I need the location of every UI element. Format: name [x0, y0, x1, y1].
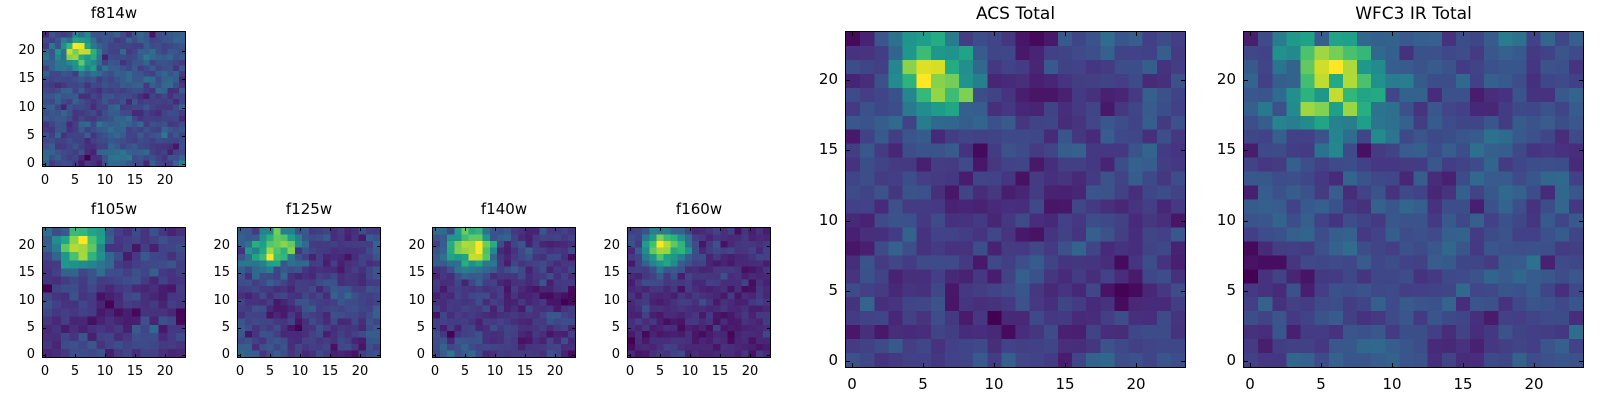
yticklabel-wfc3-ir-total-0: 0: [1203, 353, 1236, 368]
xtick-top-f140w-2: [495, 227, 496, 231]
panel-title-f125w: f125w: [237, 202, 381, 217]
ytick-f105w-1: [42, 328, 46, 329]
xtick-top-f814w-2: [105, 31, 106, 35]
xtick-f105w-1: [75, 354, 76, 358]
ytick-right-wfc3-ir-total-1: [1579, 291, 1584, 292]
yticklabel-acs-total-3: 15: [805, 142, 838, 157]
ytick-right-f814w-4: [182, 51, 186, 52]
yticklabel-f105w-0: 0: [2, 348, 35, 361]
ytick-right-acs-total-4: [1181, 80, 1186, 81]
xtick-top-f105w-2: [105, 227, 106, 231]
xticklabel-wfc3-ir-total-4: 20: [1509, 377, 1559, 392]
yticklabel-f814w-1: 5: [2, 129, 35, 142]
xtick-top-acs-total-3: [1065, 31, 1066, 36]
ytick-f814w-0: [42, 164, 46, 165]
pixel-map-f105w: [43, 228, 185, 357]
xtick-f814w-2: [105, 163, 106, 167]
xtick-top-wfc3-ir-total-3: [1463, 31, 1464, 36]
ytick-right-wfc3-ir-total-4: [1579, 80, 1584, 81]
pixel-map-wfc3-ir-total: [1244, 32, 1583, 367]
ytick-right-f105w-2: [182, 301, 186, 302]
yticklabel-f125w-3: 15: [197, 266, 230, 279]
panel-wfc3-ir-total: WFC3 IR Total0510152005101520: [1203, 3, 1584, 400]
ytick-acs-total-2: [845, 221, 850, 222]
ytick-right-f140w-2: [572, 301, 576, 302]
plot-area-acs-total[interactable]: [845, 31, 1186, 368]
ytick-wfc3-ir-total-0: [1243, 361, 1248, 362]
ytick-wfc3-ir-total-3: [1243, 150, 1248, 151]
ytick-right-f814w-1: [182, 136, 186, 137]
xtick-f160w-1: [660, 354, 661, 358]
pixel-map-f125w: [238, 228, 380, 357]
xtick-wfc3-ir-total-3: [1463, 363, 1464, 368]
xtick-top-wfc3-ir-total-0: [1250, 31, 1251, 36]
yticklabel-f125w-4: 20: [197, 239, 230, 252]
xtick-top-f105w-3: [135, 227, 136, 231]
ytick-right-f140w-3: [572, 273, 576, 274]
panel-title-f160w: f160w: [627, 202, 771, 217]
yticklabel-f125w-1: 5: [197, 321, 230, 334]
xtick-top-f814w-3: [135, 31, 136, 35]
xtick-top-f160w-3: [720, 227, 721, 231]
yticklabel-acs-total-4: 20: [805, 72, 838, 87]
xtick-f125w-1: [270, 354, 271, 358]
xtick-f140w-4: [555, 354, 556, 358]
xticklabel-f140w-4: 20: [530, 365, 580, 378]
xtick-top-f105w-1: [75, 227, 76, 231]
ytick-right-f105w-4: [182, 246, 186, 247]
xtick-f140w-1: [465, 354, 466, 358]
ytick-f814w-3: [42, 79, 46, 80]
ytick-right-acs-total-2: [1181, 221, 1186, 222]
ytick-right-f160w-4: [767, 246, 771, 247]
xticklabel-acs-total-0: 0: [827, 377, 877, 392]
pixel-map-f140w: [433, 228, 575, 357]
plot-area-f105w[interactable]: [42, 227, 186, 358]
ytick-f160w-4: [627, 246, 631, 247]
yticklabel-f160w-3: 15: [587, 266, 620, 279]
yticklabel-wfc3-ir-total-2: 10: [1203, 213, 1236, 228]
panel-acs-total: ACS Total0510152005101520: [805, 3, 1186, 400]
ytick-f125w-1: [237, 328, 241, 329]
ytick-f125w-0: [237, 355, 241, 356]
ytick-f140w-1: [432, 328, 436, 329]
xtick-top-f105w-4: [165, 227, 166, 231]
ytick-right-f125w-3: [377, 273, 381, 274]
ytick-acs-total-3: [845, 150, 850, 151]
ytick-acs-total-4: [845, 80, 850, 81]
xtick-f140w-3: [525, 354, 526, 358]
xtick-wfc3-ir-total-2: [1392, 363, 1393, 368]
xtick-wfc3-ir-total-1: [1321, 363, 1322, 368]
xtick-f814w-1: [75, 163, 76, 167]
xticklabel-acs-total-2: 10: [969, 377, 1019, 392]
xticklabel-wfc3-ir-total-3: 15: [1438, 377, 1488, 392]
xtick-f105w-2: [105, 354, 106, 358]
xtick-f140w-2: [495, 354, 496, 358]
yticklabel-f160w-4: 20: [587, 239, 620, 252]
panel-title-acs-total: ACS Total: [845, 6, 1186, 23]
xticklabel-wfc3-ir-total-0: 0: [1225, 377, 1275, 392]
xtick-wfc3-ir-total-0: [1250, 363, 1251, 368]
ytick-right-f160w-3: [767, 273, 771, 274]
pixel-map-f814w: [43, 32, 185, 166]
xticklabel-wfc3-ir-total-1: 5: [1296, 377, 1346, 392]
yticklabel-f140w-3: 15: [392, 266, 425, 279]
xtick-top-f140w-1: [465, 227, 466, 231]
plot-area-f160w[interactable]: [627, 227, 771, 358]
ytick-right-f814w-3: [182, 79, 186, 80]
xtick-top-f160w-2: [690, 227, 691, 231]
yticklabel-acs-total-0: 0: [805, 353, 838, 368]
pixel-map-f160w: [628, 228, 770, 357]
xtick-f125w-4: [360, 354, 361, 358]
ytick-f140w-2: [432, 301, 436, 302]
panel-title-wfc3-ir-total: WFC3 IR Total: [1243, 6, 1584, 23]
xtick-top-acs-total-0: [852, 31, 853, 36]
ytick-right-f160w-1: [767, 328, 771, 329]
ytick-wfc3-ir-total-4: [1243, 80, 1248, 81]
ytick-f105w-3: [42, 273, 46, 274]
xtick-top-acs-total-2: [994, 31, 995, 36]
yticklabel-f105w-1: 5: [2, 321, 35, 334]
panel-f814w: f814w0510152005101520: [2, 3, 186, 199]
ytick-f814w-2: [42, 108, 46, 109]
ytick-right-wfc3-ir-total-3: [1579, 150, 1584, 151]
yticklabel-f814w-0: 0: [2, 157, 35, 170]
ytick-right-f105w-3: [182, 273, 186, 274]
xtick-f814w-4: [165, 163, 166, 167]
xtick-acs-total-0: [852, 363, 853, 368]
ytick-right-wfc3-ir-total-2: [1579, 221, 1584, 222]
xtick-top-wfc3-ir-total-2: [1392, 31, 1393, 36]
panel-f105w: f105w0510152005101520: [2, 199, 186, 390]
yticklabel-acs-total-1: 5: [805, 283, 838, 298]
xticklabel-f105w-4: 20: [140, 365, 190, 378]
ytick-right-f125w-4: [377, 246, 381, 247]
yticklabel-f105w-3: 15: [2, 266, 35, 279]
xticklabel-wfc3-ir-total-2: 10: [1367, 377, 1417, 392]
ytick-right-f105w-0: [182, 355, 186, 356]
ytick-f814w-1: [42, 136, 46, 137]
ytick-right-acs-total-3: [1181, 150, 1186, 151]
panel-f140w: f140w0510152005101520: [392, 199, 576, 390]
plot-area-f814w[interactable]: [42, 31, 186, 167]
plot-area-f140w[interactable]: [432, 227, 576, 358]
ytick-f105w-4: [42, 246, 46, 247]
xtick-top-f140w-4: [555, 227, 556, 231]
ytick-right-f125w-0: [377, 355, 381, 356]
yticklabel-f140w-0: 0: [392, 348, 425, 361]
yticklabel-acs-total-2: 10: [805, 213, 838, 228]
ytick-right-f160w-0: [767, 355, 771, 356]
xtick-f160w-3: [720, 354, 721, 358]
xtick-top-acs-total-4: [1136, 31, 1137, 36]
xtick-top-f160w-0: [630, 227, 631, 231]
xtick-top-f140w-0: [435, 227, 436, 231]
figure-root: { "figure": { "width": 1600, "height": 4…: [0, 0, 1600, 400]
panel-f125w: f125w0510152005101520: [197, 199, 381, 390]
pixel-map-acs-total: [846, 32, 1185, 367]
ytick-f814w-4: [42, 51, 46, 52]
xtick-top-f814w-4: [165, 31, 166, 35]
ytick-f140w-4: [432, 246, 436, 247]
xtick-f125w-3: [330, 354, 331, 358]
xtick-top-f160w-1: [660, 227, 661, 231]
xtick-acs-total-4: [1136, 363, 1137, 368]
xtick-top-acs-total-1: [923, 31, 924, 36]
xticklabel-acs-total-1: 5: [898, 377, 948, 392]
ytick-f160w-1: [627, 328, 631, 329]
xtick-top-f105w-0: [45, 227, 46, 231]
xtick-f814w-3: [135, 163, 136, 167]
xtick-top-f125w-3: [330, 227, 331, 231]
ytick-right-f105w-1: [182, 328, 186, 329]
ytick-right-f140w-0: [572, 355, 576, 356]
panel-title-f814w: f814w: [42, 6, 186, 21]
xtick-f125w-2: [300, 354, 301, 358]
yticklabel-f814w-3: 15: [2, 72, 35, 85]
xtick-top-wfc3-ir-total-1: [1321, 31, 1322, 36]
yticklabel-f105w-2: 10: [2, 294, 35, 307]
yticklabel-f105w-4: 20: [2, 239, 35, 252]
yticklabel-f160w-1: 5: [587, 321, 620, 334]
yticklabel-wfc3-ir-total-4: 20: [1203, 72, 1236, 87]
yticklabel-wfc3-ir-total-3: 15: [1203, 142, 1236, 157]
yticklabel-f814w-4: 20: [2, 44, 35, 57]
xtick-acs-total-3: [1065, 363, 1066, 368]
xticklabel-f814w-4: 20: [140, 174, 190, 187]
xtick-top-f814w-1: [75, 31, 76, 35]
yticklabel-f140w-4: 20: [392, 239, 425, 252]
xtick-top-f125w-0: [240, 227, 241, 231]
ytick-f125w-2: [237, 301, 241, 302]
ytick-right-f140w-1: [572, 328, 576, 329]
ytick-f125w-3: [237, 273, 241, 274]
ytick-f105w-2: [42, 301, 46, 302]
xticklabel-acs-total-4: 20: [1111, 377, 1161, 392]
ytick-right-f140w-4: [572, 246, 576, 247]
xtick-top-f125w-2: [300, 227, 301, 231]
xtick-top-wfc3-ir-total-4: [1534, 31, 1535, 36]
yticklabel-f140w-2: 10: [392, 294, 425, 307]
xtick-top-f140w-3: [525, 227, 526, 231]
yticklabel-wfc3-ir-total-1: 5: [1203, 283, 1236, 298]
ytick-f160w-0: [627, 355, 631, 356]
plot-area-f125w[interactable]: [237, 227, 381, 358]
yticklabel-f125w-2: 10: [197, 294, 230, 307]
xtick-f160w-2: [690, 354, 691, 358]
ytick-f160w-3: [627, 273, 631, 274]
ytick-right-f814w-2: [182, 108, 186, 109]
panel-f160w: f160w0510152005101520: [587, 199, 771, 390]
panel-title-f140w: f140w: [432, 202, 576, 217]
plot-area-wfc3-ir-total[interactable]: [1243, 31, 1584, 368]
xtick-acs-total-1: [923, 363, 924, 368]
ytick-right-wfc3-ir-total-0: [1579, 361, 1584, 362]
ytick-acs-total-1: [845, 291, 850, 292]
xtick-top-f125w-1: [270, 227, 271, 231]
xtick-f105w-4: [165, 354, 166, 358]
xtick-f160w-4: [750, 354, 751, 358]
xtick-top-f125w-4: [360, 227, 361, 231]
yticklabel-f814w-2: 10: [2, 101, 35, 114]
ytick-right-f125w-2: [377, 301, 381, 302]
ytick-f160w-2: [627, 301, 631, 302]
xtick-f105w-3: [135, 354, 136, 358]
ytick-right-acs-total-0: [1181, 361, 1186, 362]
xticklabel-acs-total-3: 15: [1040, 377, 1090, 392]
ytick-right-f814w-0: [182, 164, 186, 165]
xticklabel-f125w-4: 20: [335, 365, 385, 378]
xtick-wfc3-ir-total-4: [1534, 363, 1535, 368]
panel-title-f105w: f105w: [42, 202, 186, 217]
yticklabel-f160w-0: 0: [587, 348, 620, 361]
ytick-wfc3-ir-total-1: [1243, 291, 1248, 292]
xtick-top-f814w-0: [45, 31, 46, 35]
ytick-acs-total-0: [845, 361, 850, 362]
ytick-f125w-4: [237, 246, 241, 247]
ytick-f105w-0: [42, 355, 46, 356]
ytick-right-acs-total-1: [1181, 291, 1186, 292]
yticklabel-f160w-2: 10: [587, 294, 620, 307]
ytick-right-f160w-2: [767, 301, 771, 302]
ytick-wfc3-ir-total-2: [1243, 221, 1248, 222]
xtick-top-f160w-4: [750, 227, 751, 231]
yticklabel-f140w-1: 5: [392, 321, 425, 334]
xtick-acs-total-2: [994, 363, 995, 368]
ytick-right-f125w-1: [377, 328, 381, 329]
yticklabel-f125w-0: 0: [197, 348, 230, 361]
xticklabel-f160w-4: 20: [725, 365, 775, 378]
ytick-f140w-3: [432, 273, 436, 274]
ytick-f140w-0: [432, 355, 436, 356]
